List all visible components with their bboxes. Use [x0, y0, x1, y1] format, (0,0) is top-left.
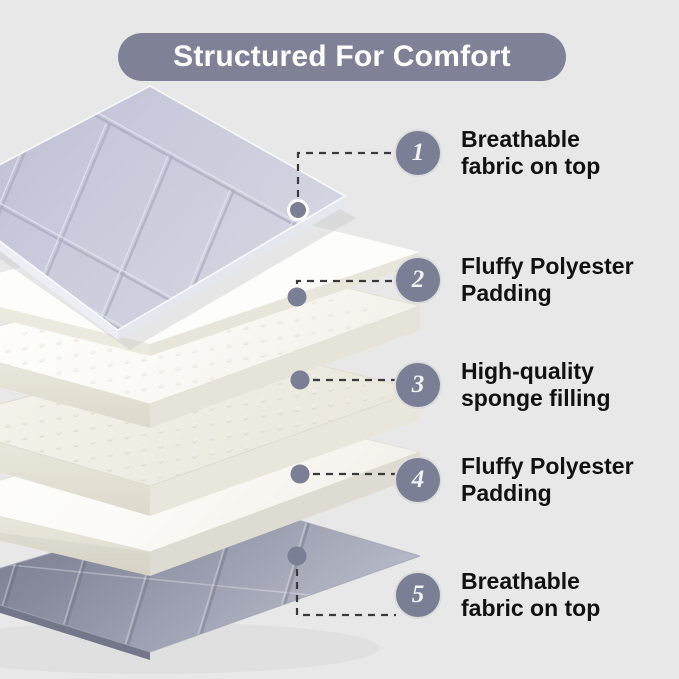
product-layer-illustration [0, 0, 420, 679]
callout-item-1: 1 Breathable fabric on top [396, 126, 600, 180]
callout-badge-2: 2 [396, 258, 440, 302]
title-banner: Structured For Comfort [118, 33, 566, 81]
callout-badge-1: 1 [396, 131, 440, 175]
callout-badge-4: 4 [396, 458, 440, 502]
callout-item-4: 4 Fluffy Polyester Padding [396, 453, 634, 507]
callout-label-2: Fluffy Polyester Padding [461, 253, 634, 307]
callout-item-3: 3 High-quality sponge filling [396, 358, 611, 412]
callout-item-5: 5 Breathable fabric on top [396, 568, 600, 622]
callout-label-5: Breathable fabric on top [461, 568, 600, 622]
callout-item-2: 2 Fluffy Polyester Padding [396, 253, 634, 307]
callout-badge-5: 5 [396, 573, 440, 617]
callout-label-3: High-quality sponge filling [461, 358, 611, 412]
page-title: Structured For Comfort [173, 40, 511, 74]
callout-label-4: Fluffy Polyester Padding [461, 453, 634, 507]
callout-label-1: Breathable fabric on top [461, 126, 600, 180]
callout-badge-3: 3 [396, 363, 440, 407]
